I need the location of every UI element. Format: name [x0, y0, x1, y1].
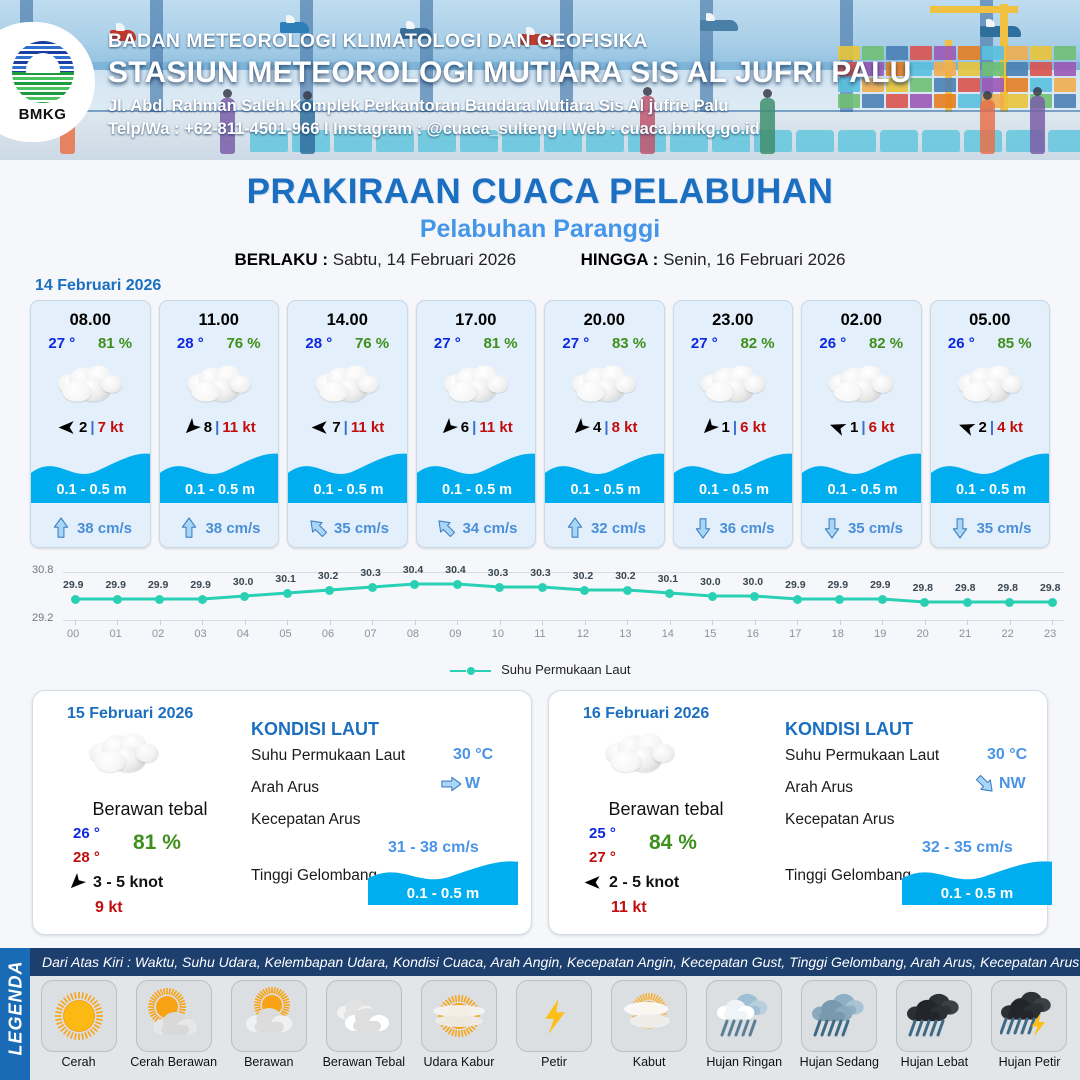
wind-direction-icon	[178, 414, 205, 441]
legend-item: Cerah	[34, 980, 123, 1069]
chart-point-value: 29.8	[998, 582, 1018, 594]
legend-item-label: Hujan Sedang	[795, 1055, 884, 1069]
chart-point-value: 30.1	[275, 573, 295, 585]
chart-point	[793, 595, 802, 604]
daily-temp-min: 25 °	[589, 825, 616, 842]
card-wind-dir: 2	[79, 419, 87, 436]
card-current-speed: 35 cm/s	[976, 520, 1031, 537]
chart-point	[963, 598, 972, 607]
daily-gust: 11 kt	[611, 899, 647, 917]
legend-note: Dari Atas Kiri : Waktu, Suhu Udara, Kele…	[42, 954, 1079, 970]
sea-condition-title: KONDISI LAUT	[251, 719, 379, 740]
card-weather-icon	[417, 356, 536, 412]
legend-item: Berawan	[224, 980, 313, 1069]
chart-point	[708, 592, 717, 601]
card-temperature: 27 °	[434, 335, 461, 352]
daily-wind-range: 3 - 5 knot	[93, 874, 163, 892]
chart-x-label: 02	[152, 628, 164, 640]
card-temperature: 27 °	[48, 335, 75, 352]
daily-panel: 16 Februari 2026Berawan tebal25 °27 °84 …	[548, 690, 1048, 935]
hourly-card: 05.0026 °85 %2|4 kt0.1 - 0.5 m35 cm/s	[930, 300, 1051, 548]
legend-marker	[467, 667, 475, 675]
legend-item: Kabut	[605, 980, 694, 1069]
chart-point	[155, 595, 164, 604]
wind-direction-icon	[696, 414, 723, 441]
chart-point-value: 29.9	[148, 579, 168, 591]
cloud-thick-icon	[58, 364, 123, 403]
card-gust: 11 kt	[479, 419, 512, 436]
card-temperature: 28 °	[177, 335, 204, 352]
chart-x-label: 04	[237, 628, 249, 640]
chart-x-label: 03	[194, 628, 206, 640]
sun-icon	[41, 980, 117, 1052]
cloud-thick-icon	[829, 364, 894, 403]
hourly-card: 20.0027 °83 %4|8 kt0.1 - 0.5 m32 cm/s	[544, 300, 665, 548]
daily-wave-value: 0.1 - 0.5 m	[902, 881, 1052, 905]
legend-line	[450, 670, 466, 672]
card-current: 34 cm/s	[417, 517, 537, 539]
chart-point-value: 30.3	[360, 567, 380, 579]
card-current: 38 cm/s	[160, 517, 280, 539]
chart-point	[325, 586, 334, 595]
card-wind: 2|4 kt	[931, 418, 1050, 437]
chart-point-value: 29.9	[785, 579, 805, 591]
chart-point	[623, 586, 632, 595]
current-dir-value: NW	[999, 775, 1026, 793]
daily-condition: Berawan tebal	[571, 799, 761, 820]
card-temperature: 26 °	[948, 335, 975, 352]
chart-point	[1005, 598, 1014, 607]
chart-point	[283, 589, 292, 598]
chart-point	[368, 583, 377, 592]
daily-panel: 15 Februari 2026Berawan tebal26 °28 °81 …	[32, 690, 532, 935]
wind-direction-icon	[567, 414, 594, 441]
chart-point	[198, 595, 207, 604]
card-wind-dir: 8	[204, 419, 212, 436]
station-name: STASIUN METEOROLOGI MUTIARA SIS AL JUFRI…	[108, 56, 911, 90]
chart-point	[240, 592, 249, 601]
legend-item: Hujan Ringan	[700, 980, 789, 1069]
legend-item: Cerah Berawan	[129, 980, 218, 1069]
chart-x-label: 08	[407, 628, 419, 640]
current-direction-icon	[693, 517, 713, 539]
card-separator: |	[861, 419, 865, 436]
chart-point	[835, 595, 844, 604]
bmkg-logo-text: BMKG	[19, 106, 67, 123]
current-dir-value-group: NW	[975, 773, 1026, 795]
station-address: Jl. Abd. Rahman Saleh Komplek Perkantora…	[108, 97, 911, 116]
legend-line-2	[475, 670, 491, 672]
hourly-card: 02.0026 °82 %1|6 kt0.1 - 0.5 m35 cm/s	[801, 300, 922, 548]
card-wind: 7|11 kt	[288, 418, 407, 437]
chart-point	[665, 589, 674, 598]
chart-x-tick	[457, 620, 458, 625]
fog-icon	[611, 980, 687, 1052]
card-wind-dir: 2	[979, 419, 987, 436]
current-speed-value: 31 - 38 cm/s	[388, 839, 479, 857]
card-separator: |	[215, 419, 219, 436]
card-time: 11.00	[160, 311, 279, 330]
daily-humidity: 84 %	[649, 831, 697, 855]
current-direction-icon	[565, 517, 585, 539]
card-humidity: 83 %	[612, 335, 646, 352]
chart-point	[750, 592, 759, 601]
chart-x-tick	[245, 620, 246, 625]
cloud-sun-icon	[231, 980, 307, 1052]
card-wind: 6|11 kt	[417, 418, 536, 437]
chart-x-tick	[202, 620, 203, 625]
header-text-block: BADAN METEOROLOGI KLIMATOLOGI DAN GEOFIS…	[108, 30, 911, 139]
station-contact: Telp/Wa : +62-811-4501-966 I Instagram :…	[108, 120, 911, 139]
daily-weather-icon	[91, 733, 157, 773]
chart-point	[580, 586, 589, 595]
header-banner: BMKG BADAN METEOROLOGI KLIMATOLOGI DAN G…	[0, 0, 1080, 160]
forecast-day-label: 14 Februari 2026	[35, 277, 161, 295]
daily-wind: 2 - 5 knot	[583, 873, 679, 892]
current-speed-value: 32 - 35 cm/s	[922, 839, 1013, 857]
legend-item-label: Cerah	[34, 1055, 123, 1069]
chart-x-tick	[882, 620, 883, 625]
card-humidity: 81 %	[98, 335, 132, 352]
legend-item-label: Berawan Tebal	[319, 1055, 408, 1069]
cloud-thick-icon	[186, 364, 251, 403]
chart-x-tick	[415, 620, 416, 625]
card-humidity: 85 %	[997, 335, 1031, 352]
agency-name: BADAN METEOROLOGI KLIMATOLOGI DAN GEOFIS…	[108, 30, 911, 53]
chart-x-tick	[670, 620, 671, 625]
chart-point-value: 30.3	[488, 567, 508, 579]
current-direction-icon	[822, 517, 842, 539]
card-wave-height: 0.1 - 0.5 m	[802, 477, 922, 503]
chart-x-tick	[287, 620, 288, 625]
cloud-thick-icon	[572, 364, 637, 403]
current-dir-value: W	[465, 775, 480, 793]
card-current-speed: 32 cm/s	[591, 520, 646, 537]
legend-item: Hujan Sedang	[795, 980, 884, 1069]
light-rain-icon	[706, 980, 782, 1052]
card-current-speed: 36 cm/s	[719, 520, 774, 537]
chart-x-label: 01	[109, 628, 121, 640]
card-wind-dir: 1	[850, 419, 858, 436]
chart-point	[920, 598, 929, 607]
card-humidity: 76 %	[226, 335, 260, 352]
card-current: 32 cm/s	[545, 517, 665, 539]
legend-item: Petir	[509, 980, 598, 1069]
chart-x-label: 00	[67, 628, 79, 640]
cloud-thick-icon	[957, 364, 1022, 403]
card-time: 23.00	[674, 311, 793, 330]
card-current: 35 cm/s	[802, 517, 922, 539]
sst-value: 30 °C	[453, 746, 493, 764]
card-current-speed: 35 cm/s	[334, 520, 389, 537]
chart-x-label: 10	[492, 628, 504, 640]
card-wave-height: 0.1 - 0.5 m	[674, 477, 794, 503]
daily-wave-value: 0.1 - 0.5 m	[368, 881, 518, 905]
current-direction-icon	[303, 513, 333, 543]
chart-point-value: 29.9	[828, 579, 848, 591]
card-gust: 7 kt	[98, 419, 124, 436]
chart-point-value: 30.2	[573, 570, 593, 582]
hingga-label: HINGGA :	[581, 250, 659, 269]
card-wave-height: 0.1 - 0.5 m	[288, 477, 408, 503]
current-dir-label: Arah Arus	[785, 779, 853, 797]
legend-item-label: Petir	[509, 1055, 598, 1069]
page-title: PRAKIRAAN CUACA PELABUHAN	[0, 172, 1080, 212]
card-separator: |	[90, 419, 94, 436]
chart-x-label: 16	[747, 628, 759, 640]
card-weather-icon	[674, 356, 793, 412]
card-current: 35 cm/s	[288, 517, 408, 539]
card-wave-height: 0.1 - 0.5 m	[31, 477, 151, 503]
daily-humidity: 81 %	[133, 831, 181, 855]
chart-point-value: 30.0	[700, 576, 720, 588]
current-direction-icon	[179, 517, 199, 539]
card-wind: 8|11 kt	[160, 418, 279, 437]
chart-x-tick	[330, 620, 331, 625]
chart-point	[71, 595, 80, 604]
sst-label: Suhu Permukaan Laut	[785, 747, 939, 765]
chart-point-value: 30.4	[445, 564, 465, 576]
card-wind-dir: 7	[332, 419, 340, 436]
chart-x-tick	[585, 620, 586, 625]
heavy-rain-icon	[896, 980, 972, 1052]
chart-x-tick	[797, 620, 798, 625]
cloud-thick-icon	[605, 732, 674, 774]
legend-item: Udara Kabur	[414, 980, 503, 1069]
legend-item-label: Cerah Berawan	[129, 1055, 218, 1069]
legend-section: LEGENDA Dari Atas Kiri : Waktu, Suhu Uda…	[0, 948, 1080, 1080]
card-wind-dir: 6	[461, 419, 469, 436]
chart-x-tick	[542, 620, 543, 625]
legend-item-label: Kabut	[605, 1055, 694, 1069]
chart-x-tick	[712, 620, 713, 625]
card-gust: 8 kt	[612, 419, 638, 436]
chart-point	[495, 583, 504, 592]
chart-point-value: 29.8	[955, 582, 975, 594]
chart-point	[410, 580, 419, 589]
daily-wind-range: 2 - 5 knot	[609, 874, 679, 892]
legend-note-bar: Dari Atas Kiri : Waktu, Suhu Udara, Kele…	[30, 948, 1080, 976]
current-speed-label: Kecepatan Arus	[251, 811, 360, 829]
card-current: 35 cm/s	[931, 517, 1051, 539]
chart-point-value: 29.9	[105, 579, 125, 591]
chart-point-value: 30.0	[743, 576, 763, 588]
hourly-card: 14.0028 °76 %7|11 kt0.1 - 0.5 m35 cm/s	[287, 300, 408, 548]
chart-point	[453, 580, 462, 589]
current-speed-label: Kecepatan Arus	[785, 811, 894, 829]
haze-icon	[421, 980, 497, 1052]
chart-x-label: 19	[874, 628, 886, 640]
sst-value: 30 °C	[987, 746, 1027, 764]
daily-date: 16 Februari 2026	[583, 705, 709, 723]
chart-x-tick	[160, 620, 161, 625]
legend-item-label: Hujan Lebat	[890, 1055, 979, 1069]
chart-point-value: 30.3	[530, 567, 550, 579]
sun-cloud-icon	[136, 980, 212, 1052]
daily-condition: Berawan tebal	[55, 799, 245, 820]
sst-chart: 30.829.229.90029.90129.90229.90330.00430…	[20, 558, 1060, 653]
berlaku-label: BERLAKU :	[235, 250, 329, 269]
current-direction-icon	[432, 513, 462, 543]
card-time: 14.00	[288, 311, 407, 330]
legend-side-label: LEGENDA	[6, 962, 27, 1056]
chart-x-label: 09	[449, 628, 461, 640]
card-current: 36 cm/s	[674, 517, 794, 539]
cloud-thick-icon	[326, 980, 402, 1052]
card-current-speed: 38 cm/s	[205, 520, 260, 537]
card-separator: |	[604, 419, 608, 436]
chart-x-label: 17	[789, 628, 801, 640]
card-time: 05.00	[931, 311, 1050, 330]
daily-temp-max: 27 °	[589, 849, 616, 866]
card-time: 02.00	[802, 311, 921, 330]
card-weather-icon	[931, 356, 1050, 412]
card-weather-icon	[288, 356, 407, 412]
chart-x-label: 14	[662, 628, 674, 640]
card-humidity: 82 %	[869, 335, 903, 352]
chart-point-value: 30.4	[403, 564, 423, 576]
hourly-forecast-list: 08.0027 °81 %2|7 kt0.1 - 0.5 m38 cm/s11.…	[30, 300, 1050, 548]
chart-x-label: 18	[832, 628, 844, 640]
legend-item-label: Hujan Petir	[985, 1055, 1074, 1069]
legend-item: Hujan Lebat	[890, 980, 979, 1069]
chart-x-tick	[1052, 620, 1053, 625]
cloud-thick-icon	[315, 364, 380, 403]
chart-x-tick	[117, 620, 118, 625]
chart-x-label: 12	[577, 628, 589, 640]
moderate-rain-icon	[801, 980, 877, 1052]
card-weather-icon	[31, 356, 150, 412]
berlaku-value: Sabtu, 14 Februari 2026	[333, 250, 516, 269]
card-current-speed: 35 cm/s	[848, 520, 903, 537]
chart-x-label: 22	[1002, 628, 1014, 640]
hourly-card: 17.0027 °81 %6|11 kt0.1 - 0.5 m34 cm/s	[416, 300, 537, 548]
chart-x-label: 11	[534, 628, 545, 640]
daily-temp-max: 28 °	[73, 849, 100, 866]
legend-item: Berawan Tebal	[319, 980, 408, 1069]
daily-gust: 9 kt	[95, 899, 123, 917]
bmkg-logo-emblem	[12, 41, 74, 103]
card-wind: 2|7 kt	[31, 418, 150, 437]
chart-x-tick	[840, 620, 841, 625]
current-direction-icon	[950, 517, 970, 539]
cloud-thick-icon	[443, 364, 508, 403]
current-direction-icon	[440, 774, 462, 794]
legend-side-bar: LEGENDA	[0, 948, 30, 1080]
card-temperature: 28 °	[305, 335, 332, 352]
chart-x-tick	[967, 620, 968, 625]
chart-x-tick	[627, 620, 628, 625]
card-humidity: 81 %	[483, 335, 517, 352]
card-wind-dir: 4	[593, 419, 601, 436]
card-humidity: 76 %	[355, 335, 389, 352]
card-time: 17.00	[417, 311, 536, 330]
card-gust: 4 kt	[997, 419, 1023, 436]
validity-line: BERLAKU : Sabtu, 14 Februari 2026 HINGGA…	[0, 250, 1080, 270]
daily-temp-min: 26 °	[73, 825, 100, 842]
card-separator: |	[472, 419, 476, 436]
current-dir-label: Arah Arus	[251, 779, 319, 797]
card-temperature: 27 °	[691, 335, 718, 352]
wind-direction-icon	[825, 415, 849, 439]
chart-x-tick	[372, 620, 373, 625]
hourly-card: 23.0027 °82 %1|6 kt0.1 - 0.5 m36 cm/s	[673, 300, 794, 548]
wind-direction-icon	[583, 873, 602, 892]
card-weather-icon	[802, 356, 921, 412]
card-gust: 6 kt	[869, 419, 895, 436]
wind-direction-icon	[435, 414, 462, 441]
card-separator: |	[733, 419, 737, 436]
page-subtitle: Pelabuhan Paranggi	[0, 215, 1080, 244]
hourly-card: 11.0028 °76 %8|11 kt0.1 - 0.5 m38 cm/s	[159, 300, 280, 548]
chart-point	[113, 595, 122, 604]
card-time: 08.00	[31, 311, 150, 330]
sst-label: Suhu Permukaan Laut	[251, 747, 405, 765]
card-current: 38 cm/s	[31, 517, 151, 539]
card-weather-icon	[160, 356, 279, 412]
card-gust: 6 kt	[740, 419, 766, 436]
card-temperature: 27 °	[562, 335, 589, 352]
card-wave-height: 0.1 - 0.5 m	[160, 477, 280, 503]
chart-point-value: 30.2	[318, 570, 338, 582]
chart-x-label: 13	[619, 628, 631, 640]
wind-direction-icon	[954, 415, 978, 439]
card-current-speed: 38 cm/s	[77, 520, 132, 537]
lightning-icon	[516, 980, 592, 1052]
card-separator: |	[344, 419, 348, 436]
current-direction-icon	[51, 517, 71, 539]
cloud-thick-icon	[89, 732, 158, 774]
chart-x-tick	[925, 620, 926, 625]
chart-point-value: 30.1	[658, 573, 678, 585]
card-gust: 11 kt	[222, 419, 255, 436]
card-wave-height: 0.1 - 0.5 m	[545, 477, 665, 503]
wind-direction-icon	[57, 418, 76, 437]
chart-x-tick	[500, 620, 501, 625]
wave-label: Tinggi Gelombang	[785, 867, 911, 885]
wind-direction-icon	[310, 418, 329, 437]
current-direction-icon	[970, 769, 1000, 799]
chart-point-value: 30.2	[615, 570, 635, 582]
chart-point	[878, 595, 887, 604]
chart-x-label: 07	[364, 628, 376, 640]
card-temperature: 26 °	[819, 335, 846, 352]
chart-x-label: 06	[322, 628, 334, 640]
legend-item: Hujan Petir	[985, 980, 1074, 1069]
chart-point-value: 29.8	[1040, 582, 1060, 594]
chart-x-label: 21	[959, 628, 971, 640]
card-gust: 11 kt	[351, 419, 384, 436]
chart-x-tick	[755, 620, 756, 625]
legend-item-label: Berawan	[224, 1055, 313, 1069]
card-wind: 4|8 kt	[545, 418, 664, 437]
wave-label: Tinggi Gelombang	[251, 867, 377, 885]
chart-point-value: 30.0	[233, 576, 253, 588]
chart-x-label: 05	[279, 628, 291, 640]
legend-item-label: Hujan Ringan	[700, 1055, 789, 1069]
card-wind: 1|6 kt	[674, 418, 793, 437]
chart-x-tick	[1010, 620, 1011, 625]
chart-x-label: 15	[704, 628, 716, 640]
chart-point	[1048, 598, 1057, 607]
chart-x-tick	[75, 620, 76, 625]
chart-point-value: 29.8	[913, 582, 933, 594]
sea-condition-title: KONDISI LAUT	[785, 719, 913, 740]
legend-item-label: Udara Kabur	[414, 1055, 503, 1069]
chart-point-value: 29.9	[63, 579, 83, 591]
legend-icon-list: CerahCerah BerawanBerawanBerawan TebalUd…	[34, 980, 1074, 1069]
hourly-card: 08.0027 °81 %2|7 kt0.1 - 0.5 m38 cm/s	[30, 300, 151, 548]
